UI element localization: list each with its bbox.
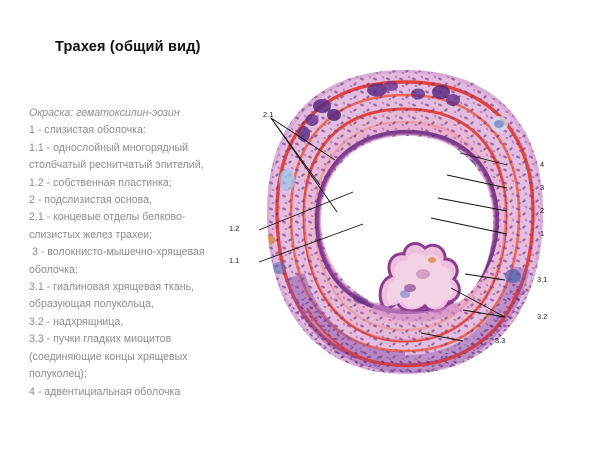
callout-label-1: 1: [540, 229, 544, 238]
legend-stain: Окраска: гематоксилин-эозин: [29, 105, 225, 122]
legend-block: Окраска: гематоксилин-эозин 1 - слизиста…: [29, 105, 225, 401]
callout-label-1-1: 1.1: [229, 256, 239, 265]
slide-canvas: Трахея (общий вид) Окраска: гематоксилин…: [0, 0, 600, 450]
callout-label-2-1: 2.1: [263, 110, 273, 119]
legend-item-4: 4 - адвентициальная оболочка: [29, 384, 225, 401]
histology-figure: 2.1 1.2 1.1 4 3 2 1 3.1 3.2 3.3: [255, 62, 555, 382]
callout-label-3-1: 3.1: [537, 275, 547, 284]
callout-label-4: 4: [540, 160, 544, 169]
callout-label-1-2: 1.2: [229, 224, 239, 233]
legend-item-2-1: 2.1 - концевые отделы белково- слизистых…: [29, 209, 225, 244]
legend-item-3-3: 3.3 - пучки гладких миоцитов (соединяющи…: [29, 331, 225, 383]
legend-item-3: 3 - волокнисто-мышечно-хрящевая оболочка…: [29, 244, 225, 279]
callout-leader-lines: [225, 52, 565, 392]
legend-item-3-1: 3.1 - гиалиновая хрящевая ткань, образую…: [29, 279, 225, 314]
legend-item-2: 2 - подслизистая основа,: [29, 192, 225, 209]
callout-label-2: 2: [540, 206, 544, 215]
page-title: Трахея (общий вид): [55, 39, 201, 55]
legend-item-3-2: 3.2 - надхрящница,: [29, 314, 225, 331]
callout-label-3-2: 3.2: [537, 312, 547, 321]
callout-label-3: 3: [540, 183, 544, 192]
legend-item-1-1: 1.1 - однослойный многорядный столбчатый…: [29, 140, 225, 175]
callout-label-3-3: 3.3: [495, 336, 505, 345]
legend-item-1-2: 1.2 - собственная пластинка;: [29, 175, 225, 192]
legend-item-1: 1 - слизистая оболочка:: [29, 122, 225, 139]
